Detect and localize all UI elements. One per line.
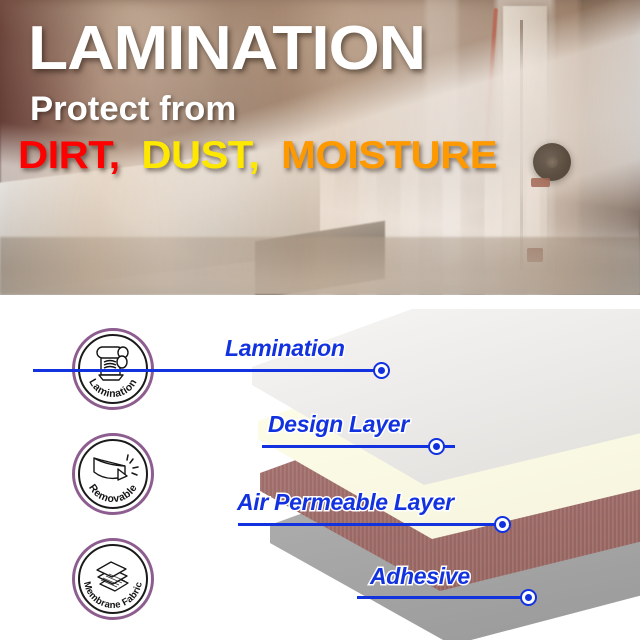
tagline: DIRT, DUST, MOISTURE — [18, 136, 497, 175]
callout-label-adhesive: Adhesive — [370, 565, 470, 588]
callout-label-lamination: Lamination — [225, 337, 345, 360]
stacked-fabric-layers-icon: Membrane Fabric — [75, 541, 151, 617]
callout-leader-line — [238, 523, 508, 526]
headline: LAMINATION — [28, 18, 425, 80]
subheadline: Protect from — [30, 92, 236, 126]
tagline-dirt: DIRT, — [18, 134, 120, 177]
tagline-dust: DUST, — [141, 134, 259, 177]
callout-dot[interactable] — [520, 589, 537, 606]
diagram-panel: Lamination — [0, 295, 640, 640]
peeling-corner-icon: Removable — [75, 436, 151, 512]
hero-banner: LAMINATION Protect from DIRT, DUST, MOIS… — [0, 0, 640, 295]
tagline-moisture: MOISTURE — [281, 134, 497, 177]
callout-dot[interactable] — [428, 438, 445, 455]
callout-label-design-layer: Design Layer — [268, 413, 409, 436]
badge-membrane-fabric[interactable]: Membrane Fabric — [72, 538, 154, 620]
poster-root: LAMINATION Protect from DIRT, DUST, MOIS… — [0, 0, 640, 640]
hero-text-block: LAMINATION Protect from DIRT, DUST, MOIS… — [0, 0, 640, 295]
svg-text:Removable: Removable — [86, 482, 140, 505]
badge-removable[interactable]: Removable — [72, 433, 154, 515]
callout-dot[interactable] — [373, 362, 390, 379]
callout-leader-line — [33, 369, 375, 372]
callout-dot[interactable] — [494, 516, 511, 533]
callout-label-air-permeable-layer: Air Permeable Layer — [237, 491, 454, 514]
callout-leader-line — [262, 445, 455, 448]
callout-leader-line — [357, 596, 529, 599]
